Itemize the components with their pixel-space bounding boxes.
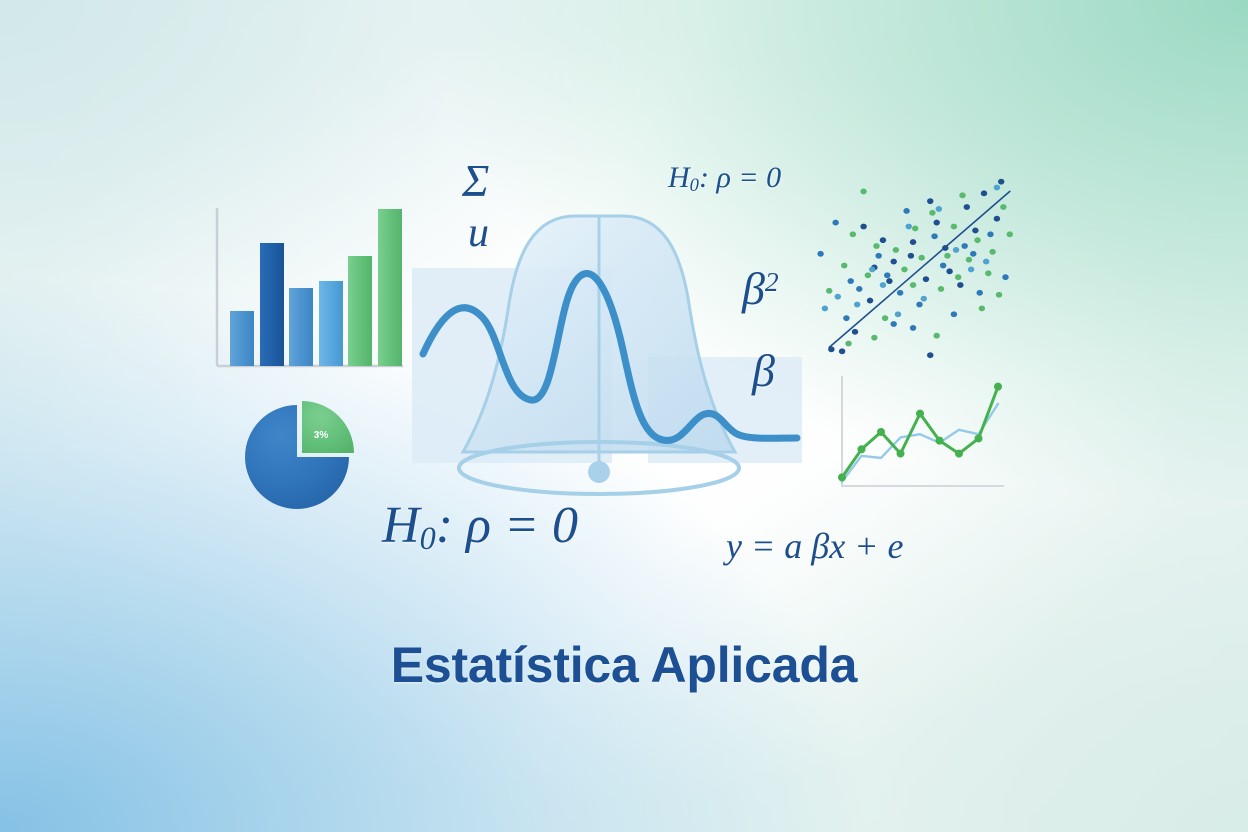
scatter-point — [908, 253, 914, 259]
bar-3 — [289, 288, 313, 366]
scatter-point — [873, 243, 879, 249]
line-marker — [858, 445, 866, 453]
scatter-point — [959, 192, 965, 198]
scatter-point — [886, 278, 892, 284]
scatter-point — [901, 266, 907, 272]
pie-chart: 3% — [240, 392, 370, 517]
scatter-point — [972, 227, 978, 233]
formula-sigma: Σ — [462, 158, 489, 204]
scatter-point — [841, 263, 847, 269]
scatter-point — [976, 290, 982, 296]
scatter-point — [944, 253, 950, 259]
scatter-point — [940, 263, 946, 269]
scatter-point — [987, 231, 993, 237]
formula-u: u — [468, 212, 489, 254]
scatter-point — [974, 237, 980, 243]
scatter-point — [835, 294, 841, 300]
scatter-plot — [812, 168, 1027, 363]
scatter-point — [916, 302, 922, 308]
scatter-point — [957, 282, 963, 288]
pie-data-label: 3% — [314, 430, 329, 441]
scatter-trendline — [829, 191, 1010, 347]
scatter-point — [897, 290, 903, 296]
bar-chart-bars — [230, 209, 402, 366]
scatter-point — [918, 255, 924, 261]
scatter-series-pontos-azul-claro — [822, 185, 1000, 318]
scatter-point — [875, 253, 881, 259]
line-marker — [994, 383, 1002, 391]
scatter-point — [910, 325, 916, 331]
line-chart — [826, 370, 1006, 502]
line-marker — [877, 428, 885, 436]
poster-canvas: 3% Σ — [0, 0, 1248, 832]
scatter-point — [839, 348, 845, 354]
scatter-point — [936, 206, 942, 212]
line-marker — [897, 450, 905, 458]
scatter-point — [903, 208, 909, 214]
scatter-point — [989, 249, 995, 255]
scatter-point — [994, 216, 1000, 222]
page-title: Estatística Aplicada — [0, 636, 1248, 694]
line-marker — [955, 450, 963, 458]
scatter-point — [865, 272, 871, 278]
scatter-point — [850, 231, 856, 237]
scatter-point — [871, 335, 877, 341]
scatter-point — [951, 224, 957, 230]
scatter-point — [832, 220, 838, 226]
scatter-point — [996, 292, 1002, 298]
scatter-point — [880, 237, 886, 243]
bell-clapper — [588, 461, 610, 483]
scatter-point — [860, 188, 866, 194]
scatter-point — [946, 268, 952, 274]
scatter-point — [1002, 274, 1008, 280]
scatter-point — [938, 286, 944, 292]
bar-2 — [260, 243, 284, 366]
bar-1 — [230, 311, 254, 366]
formula-regression: y = a βx + e — [726, 528, 903, 564]
scatter-point — [884, 272, 890, 278]
bar-5 — [348, 256, 372, 366]
scatter-point — [964, 204, 970, 210]
scatter-point — [981, 190, 987, 196]
scatter-point — [970, 251, 976, 257]
scatter-point — [955, 274, 961, 280]
scatter-point — [912, 226, 918, 232]
scatter-point — [817, 251, 823, 257]
bar-4 — [319, 281, 343, 366]
scatter-point — [961, 243, 967, 249]
scatter-point — [951, 311, 957, 317]
formula-h0-top: H0: ρ = 0 — [668, 163, 781, 196]
scatter-point — [985, 270, 991, 276]
scatter-point — [927, 198, 933, 204]
bar-chart — [205, 200, 405, 380]
scatter-point — [1000, 204, 1006, 210]
pie-slice-destaque — [302, 401, 354, 453]
scatter-point — [979, 305, 985, 311]
formula-beta: β — [752, 348, 775, 394]
formula-beta-squared: β2 — [742, 266, 779, 312]
scatter-point — [890, 321, 896, 327]
scatter-point — [856, 286, 862, 292]
scatter-point — [860, 224, 866, 230]
line-marker — [838, 473, 846, 481]
scatter-point — [882, 315, 888, 321]
scatter-series-pontos-azul-escuro — [828, 179, 1004, 358]
scatter-point — [931, 233, 937, 239]
scatter-point — [1007, 231, 1013, 237]
line-marker — [936, 437, 944, 445]
scatter-point — [953, 247, 959, 253]
scatter-point — [921, 296, 927, 302]
scatter-point — [854, 302, 860, 308]
scatter-point — [890, 259, 896, 265]
formula-h0-large: H0: ρ = 0 — [382, 500, 578, 554]
scatter-point — [893, 247, 899, 253]
scatter-point — [998, 179, 1004, 185]
scatter-point — [843, 315, 849, 321]
scatter-point — [867, 298, 873, 304]
scatter-point — [923, 276, 929, 282]
scatter-point — [929, 210, 935, 216]
scatter-point — [880, 282, 886, 288]
scatter-point — [983, 259, 989, 265]
scatter-point — [927, 352, 933, 358]
scatter-point — [869, 266, 875, 272]
scatter-point — [852, 329, 858, 335]
scatter-point — [847, 278, 853, 284]
scatter-point — [910, 239, 916, 245]
scatter-point — [933, 333, 939, 339]
scatter-point — [895, 311, 901, 317]
line-marker — [916, 410, 924, 418]
scatter-point — [826, 288, 832, 294]
scatter-point — [906, 224, 912, 230]
bar-6 — [378, 209, 402, 366]
line-series-serie-verde — [842, 387, 998, 478]
scatter-point — [845, 341, 851, 347]
scatter-point — [968, 266, 974, 272]
scatter-point — [910, 282, 916, 288]
scatter-point — [966, 257, 972, 263]
scatter-point — [822, 305, 828, 311]
line-marker — [975, 434, 983, 442]
scatter-point — [994, 185, 1000, 191]
scatter-point — [933, 220, 939, 226]
